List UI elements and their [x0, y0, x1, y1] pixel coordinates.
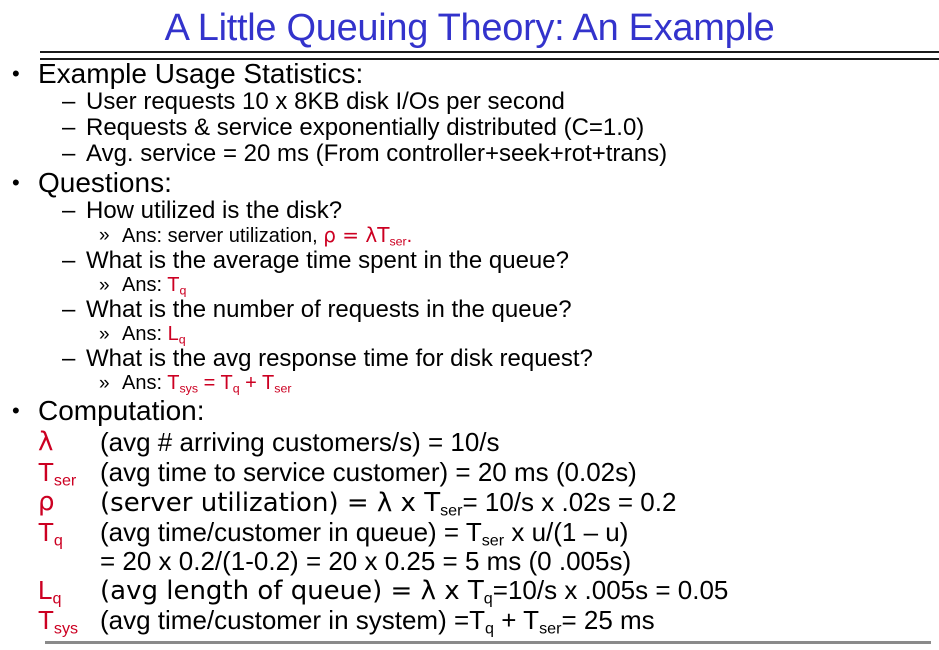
expr-part: (avg time to service customer) = 20 ms (… — [100, 457, 637, 487]
guillemet-marker-icon: » — [99, 224, 110, 247]
dash-marker-icon: – — [62, 248, 75, 274]
guillemet-marker-icon: » — [99, 274, 110, 297]
question-label: What is the avg response time for disk r… — [86, 345, 593, 372]
computation-row-tq: Tq (avg time/customer in queue) = Tser x… — [0, 517, 939, 546]
sub-bullet-label: User requests 10 x 8KB disk I/Os per sec… — [86, 88, 565, 115]
answer-label: Ans: server utilization, — [122, 225, 323, 247]
computation-expression-continuation: = 20 x 0.2/(1-0.2) = 20 x 0.25 = 5 ms (0… — [100, 546, 631, 576]
dash-marker-icon: – — [62, 115, 75, 141]
answer-label: Ans: — [122, 372, 167, 394]
computation-expression: (avg time/customer in system) =Tq + Tser… — [100, 605, 655, 635]
symbol-rho: ρ — [38, 487, 55, 517]
sub-bullet-requests-service: – Requests & service exponentially distr… — [0, 115, 939, 141]
dash-marker-icon: – — [62, 141, 75, 167]
answer-math: L — [168, 323, 179, 345]
sub-bullet-label: Requests & service exponentially distrib… — [86, 114, 644, 141]
dash-marker-icon: – — [62, 198, 75, 224]
sub-bullet-user-requests: – User requests 10 x 8KB disk I/Os per s… — [0, 89, 939, 115]
guillemet-marker-icon: » — [99, 323, 110, 346]
computation-row-tser: Tser (avg time to service customer) = 20… — [0, 457, 939, 487]
bullet-label: Computation: — [38, 395, 205, 426]
symbol-subscript: sys — [54, 620, 78, 638]
answer-math: T — [167, 274, 179, 296]
expr-part: (avg # arriving customers/s) = 10/s — [100, 427, 500, 457]
answer-lq: » Ans: Lq — [0, 323, 939, 346]
bullet-item-questions: • Questions: — [0, 167, 939, 198]
answer-tq: » Ans: Tq — [0, 274, 939, 297]
symbol-lq: Lq — [38, 575, 61, 605]
question-number-of-requests: – What is the number of requests in the … — [0, 297, 939, 323]
question-avg-response-time: – What is the avg response time for disk… — [0, 346, 939, 372]
symbol-lambda: λ — [38, 427, 53, 457]
answer-math: ρ = λT — [323, 223, 389, 247]
slide: A Little Queuing Theory: An Example • Ex… — [0, 0, 939, 650]
footer-divider — [45, 641, 931, 644]
computation-expression: (avg # arriving customers/s) = 10/s — [100, 427, 500, 457]
answer-math-tail: . — [407, 225, 413, 247]
bullet-item-example-usage-statistics: • Example Usage Statistics: — [0, 58, 939, 89]
bullet-marker-icon: • — [12, 58, 20, 89]
expr-part-2: + T — [494, 605, 539, 635]
page-title: A Little Queuing Theory: An Example — [0, 6, 939, 50]
sub-bullet-avg-service: – Avg. service = 20 ms (From controller+… — [0, 141, 939, 167]
computation-row-lq: Lq (avg length of queue) = λ x Tq=10/s x… — [0, 575, 939, 605]
bullet-marker-icon: • — [12, 395, 20, 426]
symbol-base: T — [38, 605, 54, 635]
question-label: What is the average time spent in the qu… — [86, 247, 569, 274]
expr-part: (server utilization) = λ x T — [100, 488, 440, 518]
answer-tsys: » Ans: Tsys = Tq + Tser — [0, 372, 939, 395]
computation-expression: (avg time to service customer) = 20 ms (… — [100, 457, 637, 487]
computation-expression: (avg length of queue) = λ x Tq=10/s x .0… — [100, 575, 728, 606]
bullet-label: Example Usage Statistics: — [38, 58, 363, 89]
computation-row-rho: ρ (server utilization) = λ x Tser= 10/s … — [0, 487, 939, 517]
answer-label: Ans: — [122, 323, 168, 345]
bullet-item-computation: • Computation: — [0, 395, 939, 426]
answer-math: T — [167, 372, 179, 394]
expr-part-2: = 10/s x .02s = 0.2 — [462, 487, 676, 517]
question-average-time-in-queue: – What is the average time spent in the … — [0, 248, 939, 274]
symbol-tsys: Tsys — [38, 605, 78, 635]
expr-subscript-2: ser — [539, 620, 561, 638]
dash-marker-icon: – — [62, 297, 75, 323]
expr-part-3: = 25 ms — [561, 605, 654, 635]
slide-body: • Example Usage Statistics: – User reque… — [0, 58, 939, 635]
question-label: How utilized is the disk? — [86, 197, 342, 224]
answer-math-subscript: sys — [179, 381, 198, 395]
bullet-label: Questions: — [38, 167, 172, 198]
expr-part: (avg length of queue) = λ x T — [100, 576, 484, 606]
bullet-marker-icon: • — [12, 167, 20, 198]
guillemet-marker-icon: » — [99, 372, 110, 395]
expr-part: (avg time/customer in system) =T — [100, 605, 485, 635]
sub-bullet-label: Avg. service = 20 ms (From controller+se… — [86, 140, 667, 167]
symbol-base: T — [38, 517, 54, 547]
answer-math-tail-2: + T — [240, 372, 275, 394]
computation-row-tq-continuation: = 20 x 0.2/(1-0.2) = 20 x 0.25 = 5 ms (0… — [0, 546, 939, 575]
answer-math-subscript-3: ser — [274, 381, 291, 395]
expr-subscript: q — [485, 620, 494, 638]
computation-expression: (server utilization) = λ x Tser= 10/s x … — [100, 487, 676, 518]
expr-part-2: x u/(1 – u) — [504, 517, 628, 547]
answer-math-subscript-2: q — [233, 381, 240, 395]
symbol-base: T — [38, 457, 54, 487]
computation-row-lambda: λ (avg # arriving customers/s) = 10/s — [0, 427, 939, 457]
answer-math-tail: = T — [198, 372, 233, 394]
expr-part-2: =10/s x .005s = 0.05 — [493, 575, 729, 605]
question-label: What is the number of requests in the qu… — [86, 296, 572, 323]
symbol-base: L — [38, 575, 52, 605]
computation-row-tsys: Tsys (avg time/customer in system) =Tq +… — [0, 605, 939, 635]
dash-marker-icon: – — [62, 89, 75, 115]
symbol-tser: Tser — [38, 457, 76, 487]
dash-marker-icon: – — [62, 346, 75, 372]
computation-table: λ (avg # arriving customers/s) = 10/s Ts… — [0, 427, 939, 635]
answer-server-utilization: » Ans: server utilization, ρ = λTser. — [0, 224, 939, 248]
question-how-utilized: – How utilized is the disk? — [0, 198, 939, 224]
computation-expression: (avg time/customer in queue) = Tser x u/… — [100, 517, 628, 547]
symbol-tq: Tq — [38, 517, 63, 547]
expr-part: (avg time/customer in queue) = T — [100, 517, 482, 547]
answer-label: Ans: — [122, 274, 167, 296]
